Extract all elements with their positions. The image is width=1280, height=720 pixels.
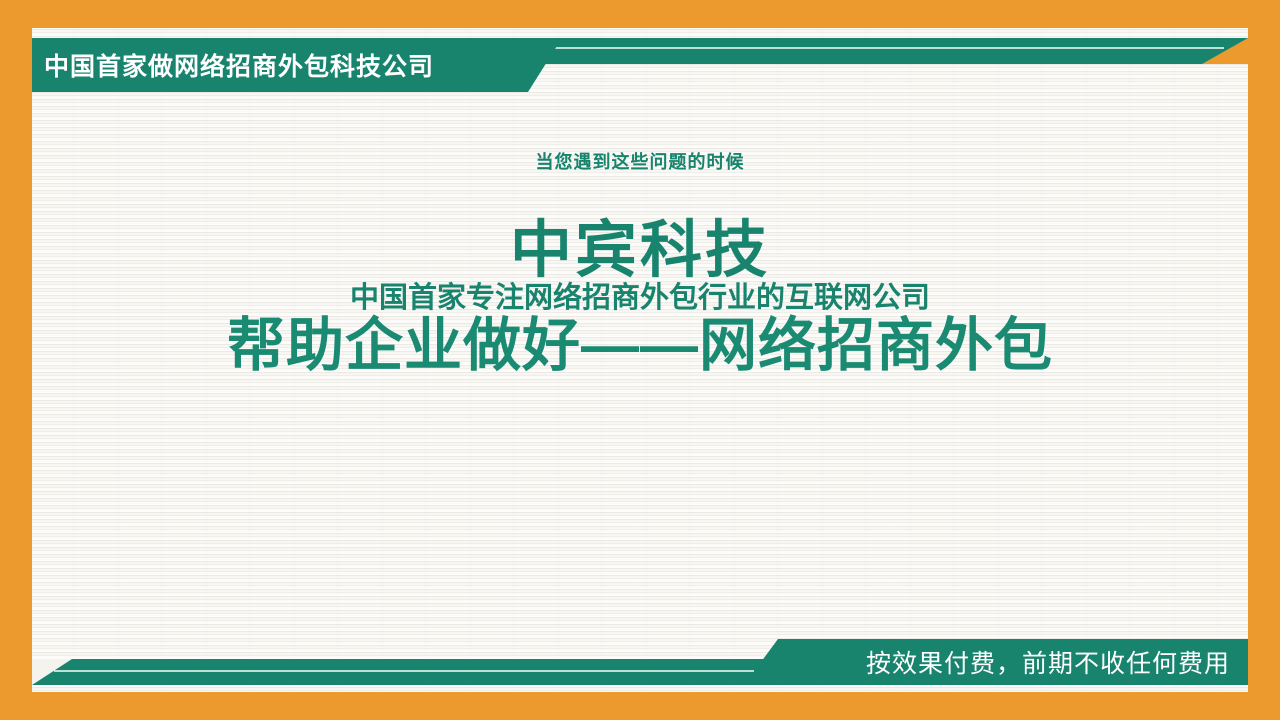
header-banner: 中国首家做网络招商外包科技公司 [32,38,1248,100]
footer-tagline-block: 按效果付费，前期不收任何费用 [744,639,1248,685]
footer-banner: 按效果付费，前期不收任何费用 [32,631,1248,685]
header-title: 中国首家做网络招商外包科技公司 [32,47,434,83]
slide-content: 当您遇到这些问题的时候 中宾科技 中国首家专注网络招商外包行业的互联网公司 帮助… [32,148,1248,378]
main-headline: 帮助企业做好——网络招商外包 [32,314,1248,379]
slide-paper-panel: 中国首家做网络招商外包科技公司 当您遇到这些问题的时候 中宾科技 中国首家专注网… [32,28,1248,692]
header-title-block: 中国首家做网络招商外包科技公司 [32,38,562,92]
eyebrow-text: 当您遇到这些问题的时候 [32,148,1248,174]
footer-hairline-rule [54,670,754,672]
brand-subtitle: 中国首家专注网络招商外包行业的互联网公司 [32,283,1248,313]
footer-tagline: 按效果付费，前期不收任何费用 [866,644,1248,680]
brand-name: 中宾科技 [32,218,1248,283]
slide-canvas: 中国首家做网络招商外包科技公司 当您遇到这些问题的时候 中宾科技 中国首家专注网… [0,0,1280,720]
